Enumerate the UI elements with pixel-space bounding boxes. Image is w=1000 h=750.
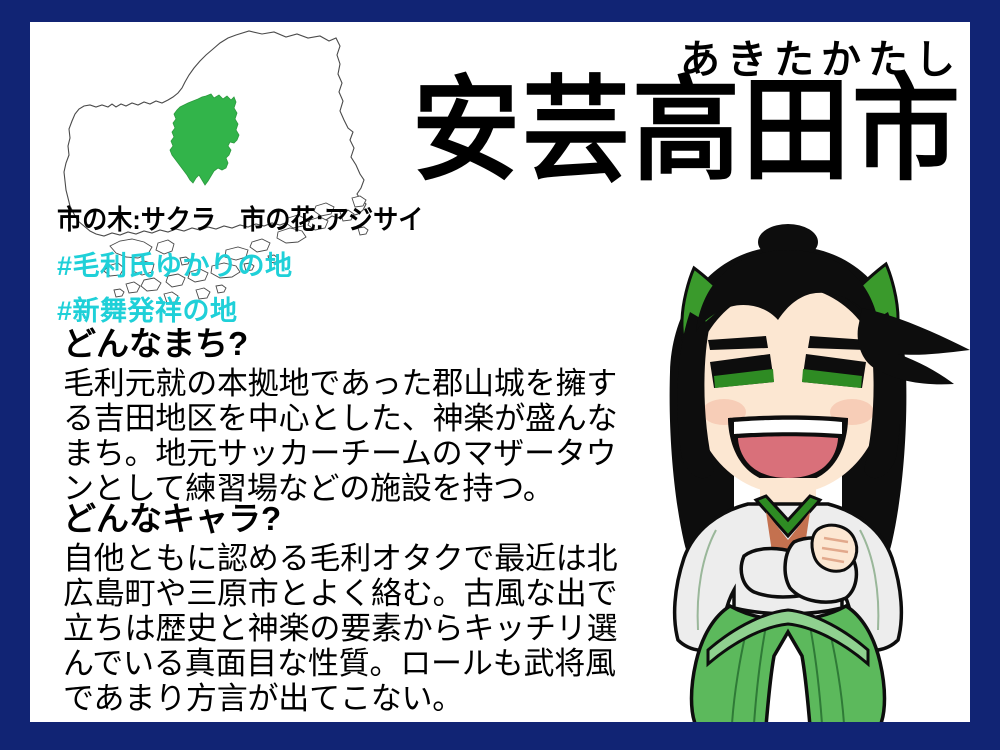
text-line: まち。地元サッカーチームのマザータウ <box>63 436 623 471</box>
text-line: であまり方言が出てこない。 <box>63 681 623 716</box>
hashtag-mori-clan[interactable]: #毛利氏ゆかりの地 <box>57 244 293 283</box>
section-town: どんなまち? 毛利元就の本拠地であった郡山城を擁す る吉田地区を中心とした、神楽… <box>63 327 623 506</box>
text-line: 自他ともに認める毛利オタクで最近は北 <box>63 541 623 576</box>
mouth-teeth <box>734 420 842 434</box>
city-symbols-line: 市の木:サクラ市の花:アジサイ <box>57 198 423 237</box>
text-line: 立ちは歴史と神楽の要素からキッチリ選 <box>63 611 623 646</box>
section-character-body: 自他ともに認める毛利オタクで最近は北 広島町や三原市とよく絡む。古風な出で 立ち… <box>63 541 623 716</box>
text-line: る吉田地区を中心とした、神楽が盛んな <box>63 401 623 436</box>
city-flower-label: 市の花:アジサイ <box>240 205 423 235</box>
page-title: 安芸高田市 <box>412 74 962 187</box>
text-line: 毛利元就の本拠地であった郡山城を擁す <box>63 366 623 401</box>
section-town-heading: どんなまち? <box>63 327 623 362</box>
city-tree-label: 市の木:サクラ <box>57 205 216 235</box>
section-town-body: 毛利元就の本拠地であった郡山城を擁す る吉田地区を中心とした、神楽が盛んな まち… <box>63 366 623 506</box>
text-line: んでいる真面目な性質。ロールも武将風 <box>63 646 623 681</box>
section-character: どんなキャラ? 自他ともに認める毛利オタクで最近は北 広島町や三原市とよく絡む。… <box>63 502 623 716</box>
hand-fist <box>812 525 857 571</box>
poster-card: あきたかたし 安芸高田市 市の木:サクラ市の花:アジサイ #毛利氏ゆかりの地 #… <box>30 22 970 722</box>
poster-frame: あきたかたし 安芸高田市 市の木:サクラ市の花:アジサイ #毛利氏ゆかりの地 #… <box>0 0 1000 750</box>
hashtag-shinmai-origin[interactable]: #新舞発祥の地 <box>57 289 238 328</box>
akitakata-mascot-character <box>598 212 970 722</box>
text-line: 広島町や三原市とよく絡む。古風な出で <box>63 576 623 611</box>
section-character-heading: どんなキャラ? <box>63 502 623 537</box>
